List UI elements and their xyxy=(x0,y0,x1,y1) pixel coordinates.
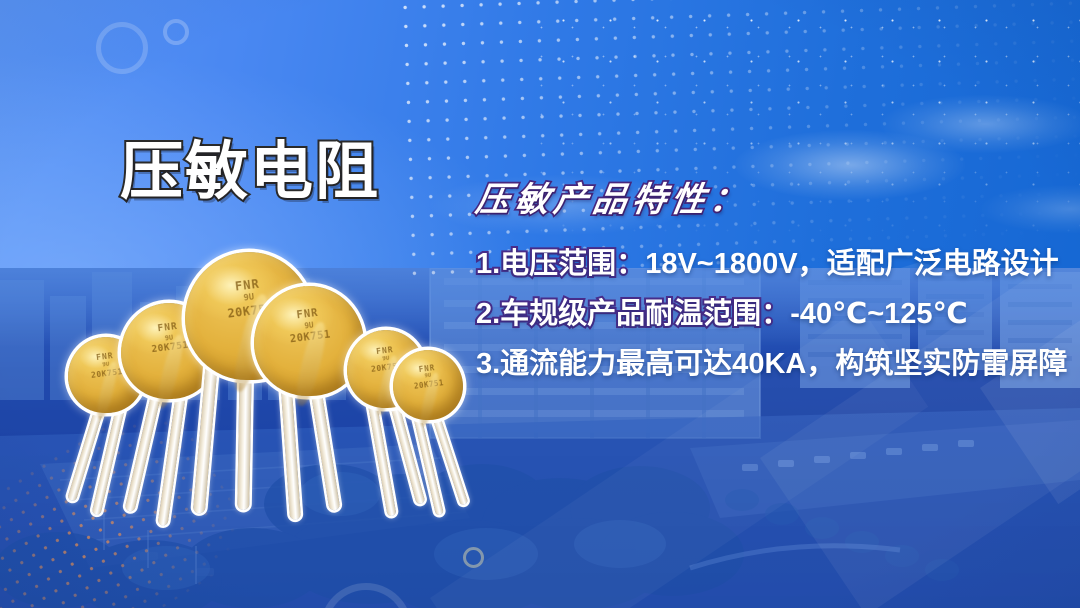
feature-item-key: 3.通流能力最高可达40KA，构筑坚实防雷屏障 xyxy=(476,348,1067,380)
feature-list: 1.电压范围：18V~1800V，适配广泛电路设计 2.车规级产品耐温范围：-4… xyxy=(476,250,1076,379)
feature-panel: 压敏产品特性： 1.电压范围：18V~1800V，适配广泛电路设计 2.车规级产… xyxy=(476,184,1076,379)
feature-item-value: -40℃~125℃ xyxy=(790,298,967,330)
feature-item-key: 1.电压范围： xyxy=(476,248,645,280)
page-title: 压敏电阻 xyxy=(120,141,380,204)
feature-heading: 压敏产品特性： xyxy=(473,184,1078,218)
feature-list-item: 3.通流能力最高可达40KA，构筑坚实防雷屏障 xyxy=(476,350,1076,379)
feature-list-item: 2.车规级产品耐温范围：-40℃~125℃ xyxy=(476,300,1076,329)
feature-item-value: 18V~1800V，适配广泛电路设计 xyxy=(645,248,1058,280)
feature-item-key: 2.车规级产品耐温范围： xyxy=(476,298,790,330)
slide-canvas: FNR 9U 20K751 FNR 9U 20K751 xyxy=(0,0,1080,608)
feature-list-item: 1.电压范围：18V~1800V，适配广泛电路设计 xyxy=(476,250,1076,279)
